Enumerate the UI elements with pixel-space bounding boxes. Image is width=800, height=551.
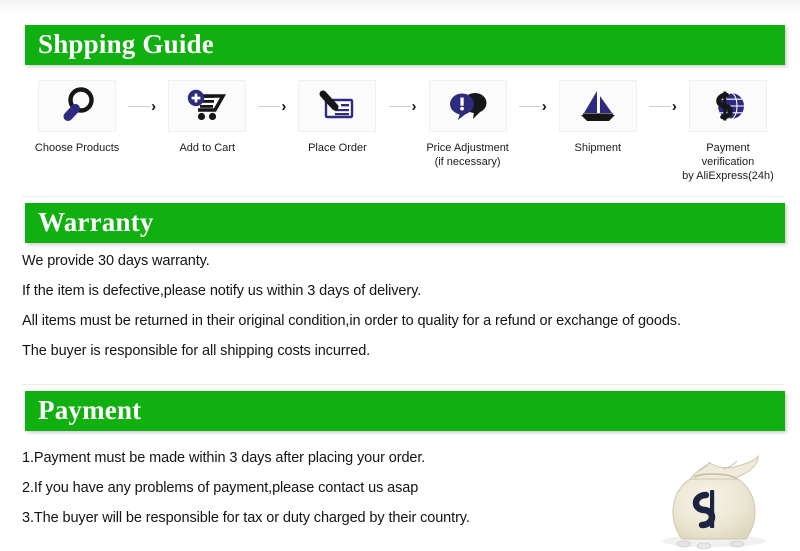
chevron-right-icon: ›: [151, 99, 156, 114]
section-divider: [22, 196, 784, 197]
speech-bubbles-icon: [443, 86, 493, 126]
chevron-right-icon: ›: [281, 99, 286, 114]
chevron-right-icon: ›: [672, 99, 677, 114]
step-label: Place Order: [308, 141, 367, 155]
money-bag-image: [638, 447, 793, 549]
step-place-order: Place Order: [290, 80, 384, 155]
step-separator-4: ›: [515, 80, 551, 132]
step-label: Add to Cart: [179, 141, 235, 155]
warranty-body: We provide 30 days warranty. If the item…: [22, 253, 782, 373]
step-label: Payment verificationby AliExpress(24h): [681, 141, 775, 183]
arrow-line: [519, 106, 541, 107]
sailboat-icon: [573, 86, 623, 126]
warranty-line: All items must be returned in their orig…: [22, 313, 782, 330]
chevron-right-icon: ›: [412, 99, 417, 114]
icon-box: [168, 80, 246, 132]
step-choose-products: Choose Products: [30, 80, 124, 155]
step-label: Shipment: [575, 141, 621, 155]
dollar-globe-icon: [704, 86, 752, 126]
pen-check-icon: [313, 86, 361, 126]
chevron-right-icon: ›: [542, 99, 547, 114]
step-separator-5: ›: [645, 80, 681, 132]
shipping-guide-page: Shpping Guide Choose Products ›: [0, 0, 800, 551]
payment-title: Payment: [25, 397, 141, 424]
icon-box: [559, 80, 637, 132]
shipping-steps: Choose Products › Add t: [30, 80, 775, 190]
step-separator-3: ›: [385, 80, 421, 132]
arrow-line: [649, 106, 671, 107]
shopping-cart-icon: [183, 86, 231, 126]
step-payment-verification: Payment verificationby AliExpress(24h): [681, 80, 775, 183]
step-add-to-cart: Add to Cart: [160, 80, 254, 155]
icon-box: [689, 80, 767, 132]
icon-box: [38, 80, 116, 132]
step-price-adjustment: Price Adjustment(if necessary): [421, 80, 515, 169]
section-header-shipping: Shpping Guide: [25, 25, 785, 65]
arrow-line: [128, 106, 150, 107]
shipping-title: Shpping Guide: [25, 31, 214, 58]
warranty-line: We provide 30 days warranty.: [22, 253, 782, 270]
arrow-line: [258, 106, 280, 107]
icon-box: [429, 80, 507, 132]
section-header-warranty: Warranty: [25, 203, 785, 243]
magnifier-icon: [54, 86, 100, 126]
section-divider: [22, 384, 784, 385]
step-label: Choose Products: [35, 141, 119, 155]
step-separator-2: ›: [254, 80, 290, 132]
warranty-title: Warranty: [25, 209, 154, 236]
section-header-payment: Payment: [25, 391, 785, 431]
warranty-line: The buyer is responsible for all shippin…: [22, 343, 782, 360]
step-separator-1: ›: [124, 80, 160, 132]
step-label: Price Adjustment(if necessary): [426, 141, 509, 169]
icon-box: [298, 80, 376, 132]
step-shipment: Shipment: [551, 80, 645, 155]
warranty-line: If the item is defective,please notify u…: [22, 283, 782, 300]
arrow-line: [389, 106, 411, 107]
page-top-edge: [0, 0, 800, 14]
